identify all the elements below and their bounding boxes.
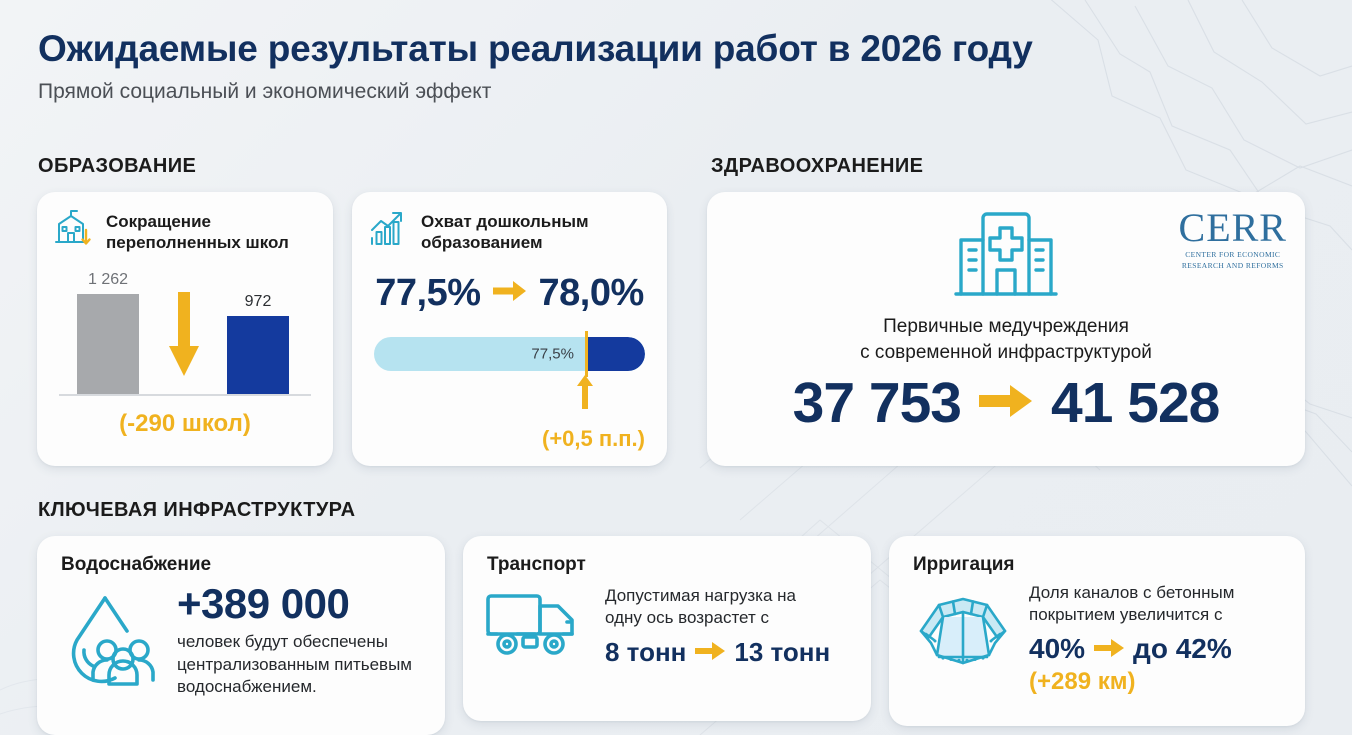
card-transport-text: Допустимая нагрузка на одну ось возрасте… [605,585,853,669]
card-transport-title: Транспорт [463,536,871,576]
card-schools-title: Сокращение переполненных школ [106,208,317,254]
card-preschool-title: Охват дошкольным образованием [421,208,651,254]
progress-marker-line [585,331,588,377]
bar-label-to: 972 [245,293,272,311]
cerr-logo-tagline-1: CENTER FOR ECONOMIC [1179,250,1287,259]
transport-value-from: 8 тонн [605,637,686,668]
progress-target-segment [585,337,645,371]
transport-desc-line-2: одну ось возрастет с [605,607,853,629]
page-subtitle: Прямой социальный и экономический эффект [38,80,1033,104]
card-preschool: Охват дошкольным образованием 77,5% 78,0… [352,192,667,466]
bar-current-schools: 1 262 [77,294,139,394]
preschool-delta: (+0,5 п.п.) [352,426,645,452]
cerr-logo-tagline-2: RESEARCH AND REFORMS [1179,261,1287,270]
healthcare-values: 37 753 41 528 [707,375,1305,432]
card-healthcare: CERR CENTER FOR ECONOMIC RESEARCH AND RE… [707,192,1305,466]
preschool-values: 77,5% 78,0% [352,272,667,315]
transport-description: Допустимая нагрузка на одну ось возрасте… [605,585,853,630]
page-title: Ожидаемые результаты реализации работ в … [38,28,1033,69]
card-irrigation-text: Доля каналов с бетонным покрытием увелич… [1029,582,1287,696]
school-icon [53,208,95,253]
water-desc-line-3: водоснабжением. [177,676,427,698]
chart-baseline [59,394,311,396]
infographic-page: Ожидаемые результаты реализации работ в … [0,0,1352,735]
progress-track: 77,5% [374,337,645,371]
section-title-healthcare: ЗДРАВООХРАНЕНИЕ [711,155,923,178]
transport-value-to: 13 тонн [734,637,830,668]
irrigation-values: 40% до 42% [1029,633,1287,665]
card-irrigation-title: Ирригация [889,536,1305,576]
card-irrigation-body: Доля каналов с бетонным покрытием увелич… [889,576,1305,696]
irrigation-value-from: 40% [1029,633,1085,665]
progress-label: 77,5% [531,345,574,362]
water-description: человек будут обеспечены централизованны… [177,631,427,698]
card-transport-body: Допустимая нагрузка на одну ось возрасте… [463,576,871,671]
card-water-supply: Водоснабжение [37,536,445,735]
hero-header: Ожидаемые результаты реализации работ в … [38,28,1033,104]
section-title-education: ОБРАЗОВАНИЕ [38,155,196,178]
bar-label-from: 1 262 [88,271,128,289]
card-irrigation: Ирригация [889,536,1305,726]
cerr-logo-wordmark: CERR [1179,208,1287,248]
card-water-title: Водоснабжение [37,536,445,576]
growth-chart-icon [368,208,410,253]
cerr-logo: CERR CENTER FOR ECONOMIC RESEARCH AND RE… [1179,208,1287,271]
transport-values: 8 тонн 13 тонн [605,637,853,668]
irrigation-value-to: до 42% [1133,633,1232,665]
water-big-number: +389 000 [177,582,427,626]
water-desc-line-1: человек будут обеспечены [177,631,427,653]
preschool-value-to: 78,0% [539,272,644,315]
card-water-body: +389 000 человек будут обеспечены центра… [37,576,445,698]
card-transport: Транспорт [463,536,871,721]
arrow-right-icon [1094,633,1124,665]
schools-delta: (-290 школ) [37,410,333,438]
section-title-infrastructure: КЛЮЧЕВАЯ ИНФРАСТРУКТУРА [38,499,356,522]
irrigation-desc-line-2: покрытием увеличится с [1029,604,1287,626]
healthcare-caption: Первичные медучреждения с современной ин… [707,314,1305,365]
card-water-text: +389 000 человек будут обеспечены центра… [177,582,427,698]
bar-target-schools: 972 [227,316,289,394]
schools-bar-chart: 1 262 972 [59,268,311,396]
truck-icon [483,582,593,671]
arrow-right-icon [979,383,1033,424]
healthcare-value-to: 41 528 [1051,375,1219,432]
canal-icon [909,593,1017,684]
healthcare-caption-line-1: Первичные медучреждения [707,314,1305,340]
card-schools-head: Сокращение переполненных школ [37,192,333,254]
healthcare-caption-line-2: с современной инфраструктурой [707,340,1305,366]
arrow-right-icon [695,637,725,668]
card-schools: Сокращение переполненных школ 1 262 972 … [37,192,333,466]
irrigation-description: Доля каналов с бетонным покрытием увелич… [1029,582,1287,627]
healthcare-value-from: 37 753 [793,375,961,432]
irrigation-desc-line-1: Доля каналов с бетонным [1029,582,1287,604]
card-preschool-head: Охват дошкольным образованием [352,192,667,254]
preschool-value-from: 77,5% [375,272,480,315]
water-desc-line-2: централизованным питьевым [177,654,427,676]
arrow-right-icon [493,280,527,307]
irrigation-note: (+289 км) [1029,668,1287,696]
transport-desc-line-1: Допустимая нагрузка на [605,585,853,607]
preschool-progress-bar: 77,5% [374,337,645,375]
increase-arrow-icon [574,375,596,409]
decrease-arrow-icon [167,292,201,378]
water-drop-people-icon [57,584,165,697]
